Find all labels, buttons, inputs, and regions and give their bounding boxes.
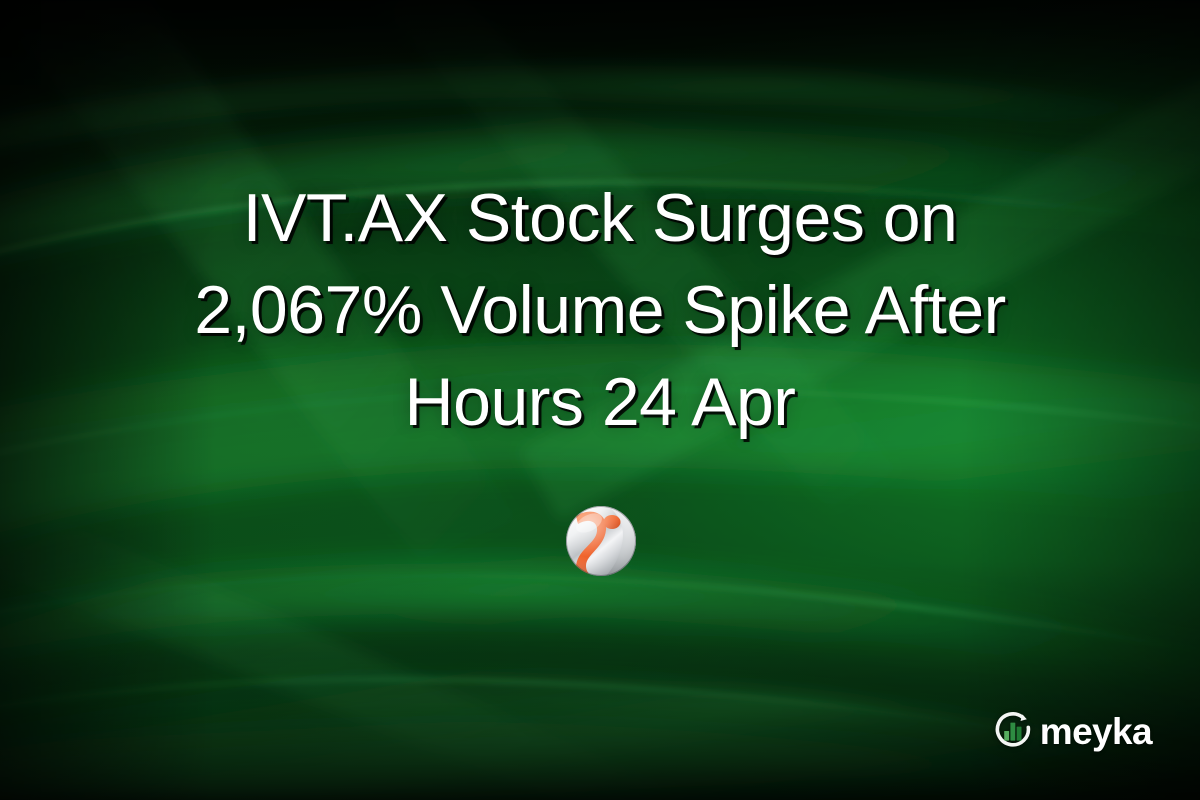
meyka-wordmark: meyka <box>1040 713 1152 750</box>
headline-text: IVT.AX Stock Surges on 2,067% Volume Spi… <box>0 172 1200 448</box>
meyka-logo-icon <box>991 708 1035 752</box>
social-share-card: IVT.AX Stock Surges on 2,067% Volume Spi… <box>0 0 1200 800</box>
sphere-emblem-icon <box>564 504 638 578</box>
brand-lockup[interactable]: meyka <box>991 708 1152 752</box>
